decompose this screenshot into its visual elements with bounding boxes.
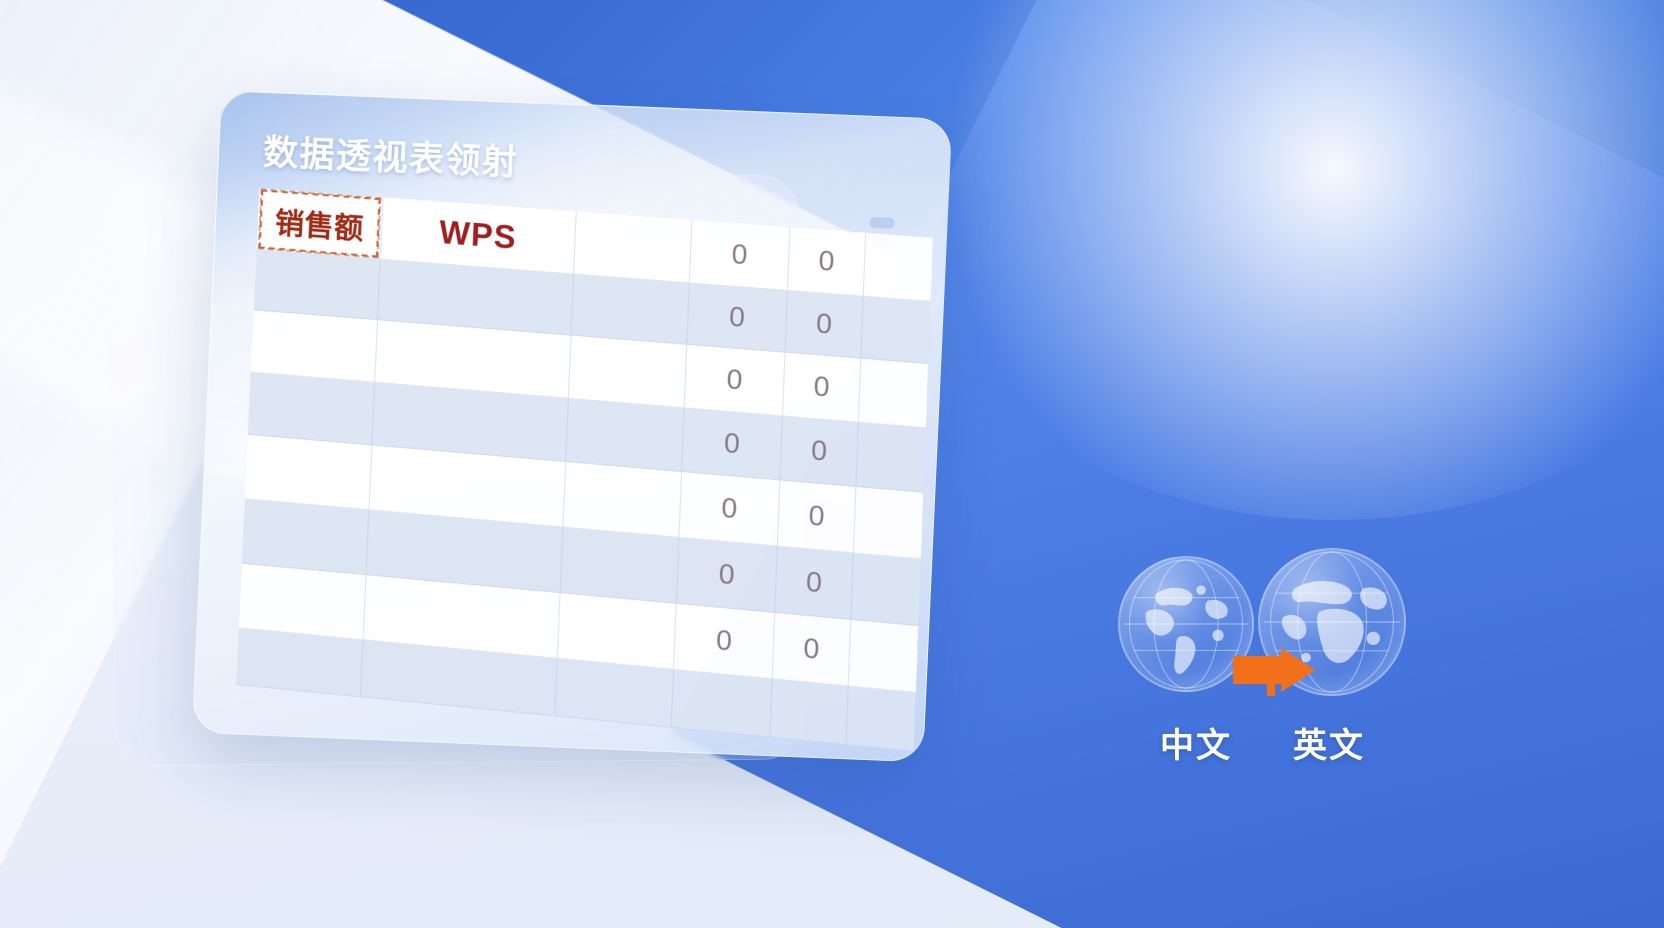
- table-cell[interactable]: [849, 620, 919, 693]
- table-cell-value[interactable]: 0: [773, 613, 852, 687]
- translation-illustration: 中文 英文: [1108, 540, 1448, 800]
- table-cell[interactable]: [859, 359, 928, 429]
- table-cell-value[interactable]: 0: [775, 547, 854, 620]
- table-cell[interactable]: [242, 499, 370, 575]
- table-cell[interactable]: [574, 212, 692, 284]
- table-cell[interactable]: [245, 435, 373, 511]
- table-cell-value[interactable]: 0: [674, 604, 775, 679]
- table-cell[interactable]: [561, 528, 680, 604]
- table-cell-value[interactable]: 0: [788, 227, 866, 296]
- table-cell[interactable]: [254, 250, 381, 320]
- card-surface: 数据透视表领射 销售额 WPS 0 0 0 0: [192, 90, 953, 763]
- table-cell-value[interactable]: 0: [687, 283, 788, 352]
- table-cell[interactable]: [563, 462, 682, 538]
- table-cell[interactable]: [846, 687, 915, 752]
- table-cell-value[interactable]: 0: [679, 472, 780, 547]
- table-cell[interactable]: [555, 659, 674, 728]
- table-cell[interactable]: [864, 233, 933, 302]
- table-cell[interactable]: [239, 564, 367, 641]
- table-cell-value[interactable]: 0: [677, 538, 778, 613]
- table-cell[interactable]: [236, 628, 363, 697]
- table-cell[interactable]: [558, 593, 677, 670]
- target-language-label: 英文: [1293, 718, 1365, 767]
- table-cell-value[interactable]: 0: [682, 408, 783, 480]
- table-cell[interactable]: [569, 336, 687, 409]
- table-cell-value[interactable]: 0: [690, 220, 791, 291]
- table-cell-value[interactable]: 0: [780, 417, 858, 487]
- table-cell[interactable]: [248, 372, 375, 445]
- table-cell[interactable]: [251, 310, 378, 382]
- list-menu-bar-1: [869, 217, 894, 229]
- table-cell-value[interactable]: 0: [783, 353, 861, 423]
- source-language-label: 中文: [1160, 718, 1232, 767]
- table-cell[interactable]: [770, 679, 848, 745]
- table-cell[interactable]: [566, 399, 685, 472]
- marching-ants-border: [259, 189, 381, 257]
- table-cell[interactable]: [572, 275, 690, 345]
- cell-selected-sales[interactable]: 销售额: [257, 188, 384, 259]
- spreadsheet-grid[interactable]: 销售额 WPS 0 0 0 0 0 0: [234, 188, 932, 762]
- table-cell[interactable]: [854, 487, 923, 559]
- table-cell[interactable]: [851, 553, 921, 626]
- arrow-right-icon: [1231, 648, 1317, 696]
- page-title: 数据透视表领射: [262, 124, 520, 185]
- table-cell-value[interactable]: 0: [685, 345, 786, 417]
- pivot-table-card: 数据透视表领射 销售额 WPS 0 0 0 0: [192, 90, 953, 763]
- table-cell-value[interactable]: 0: [778, 480, 857, 553]
- table-cell[interactable]: [861, 297, 930, 364]
- table-cell-value[interactable]: 0: [786, 291, 864, 359]
- table-cell[interactable]: [672, 670, 773, 738]
- table-cell[interactable]: [856, 423, 925, 493]
